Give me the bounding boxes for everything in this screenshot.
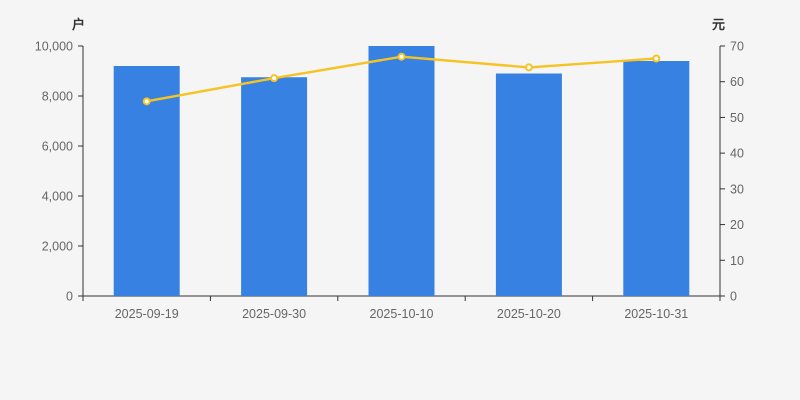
bar[interactable] [496,74,562,297]
right-axis-tick-label: 30 [730,182,744,196]
right-axis-tick-label: 50 [730,111,744,125]
left-axis: 02,0004,0006,0008,00010,000 [35,40,83,304]
bar[interactable] [241,77,307,296]
right-axis: 010203040506070 [720,40,744,304]
line-marker[interactable] [399,54,405,60]
left-axis-tick-label: 6,000 [42,140,73,154]
line-marker[interactable] [526,64,532,70]
x-axis-category-label: 2025-10-31 [624,307,688,321]
left-axis-tick-label: 10,000 [35,40,73,54]
right-axis-tick-label: 20 [730,218,744,232]
x-axis-category-label: 2025-10-10 [370,307,434,321]
line-marker[interactable] [271,75,277,81]
bar-series [114,46,690,296]
right-axis-tick-label: 10 [730,254,744,268]
right-axis-tick-label: 60 [730,75,744,89]
left-axis-tick-label: 2,000 [42,240,73,254]
right-axis-tick-label: 40 [730,147,744,161]
x-axis-category-label: 2025-09-19 [115,307,179,321]
bar[interactable] [369,46,435,296]
right-axis-tick-label: 70 [730,40,744,54]
chart-svg: 02,0004,0006,0008,00010,000 010203040506… [0,0,800,400]
left-axis-tick-label: 0 [66,290,73,304]
left-axis-tick-label: 4,000 [42,190,73,204]
x-axis-tick-labels: 2025-09-192025-09-302025-10-102025-10-20… [115,307,689,321]
bar[interactable] [623,61,689,296]
line-marker[interactable] [144,98,150,104]
x-axis-category-label: 2025-09-30 [242,307,306,321]
x-axis-category-label: 2025-10-20 [497,307,561,321]
line-marker[interactable] [653,56,659,62]
chart-container: 户 元 02,0004,0006,0008,00010,000 01020304… [0,0,800,400]
left-axis-tick-label: 8,000 [42,90,73,104]
x-axis [83,296,720,301]
right-axis-tick-label: 0 [730,290,737,304]
